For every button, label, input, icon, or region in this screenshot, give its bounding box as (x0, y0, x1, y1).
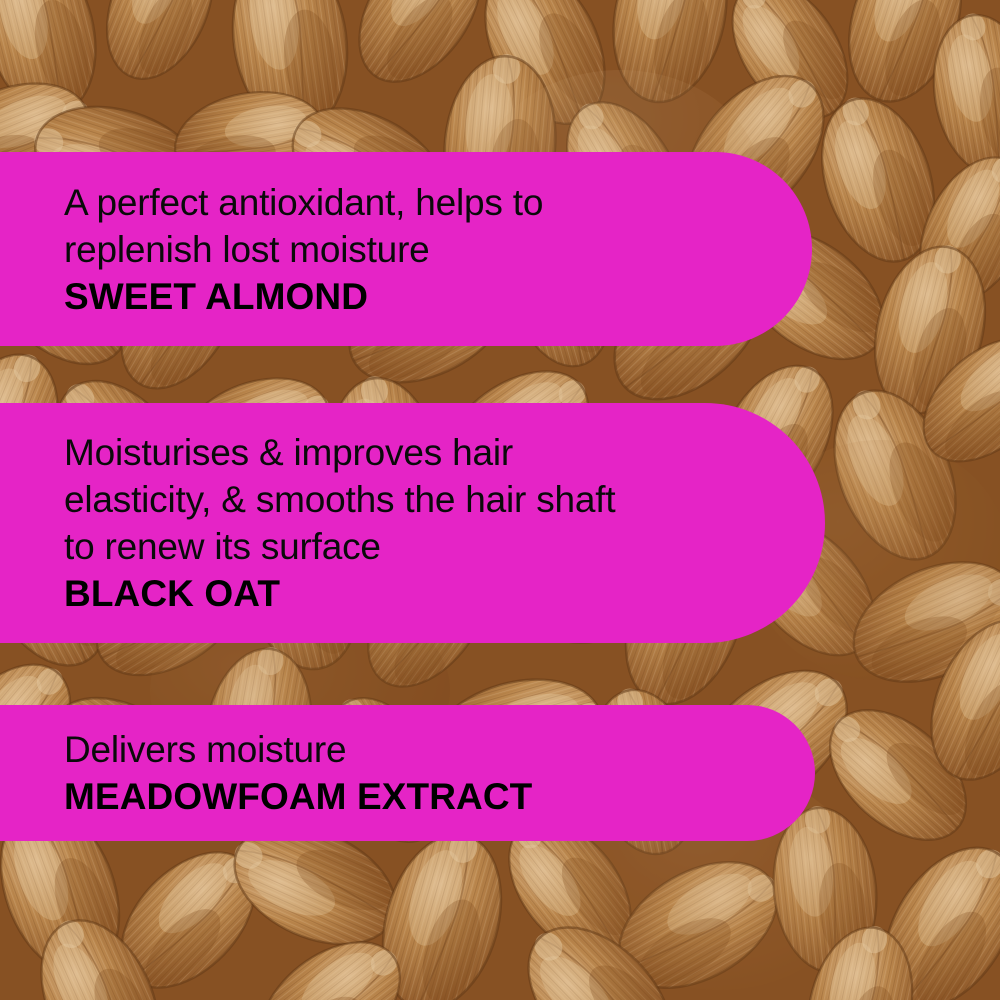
ingredient-name: SWEET ALMOND (64, 273, 772, 320)
ingredient-name: BLACK OAT (64, 570, 785, 617)
ingredient-benefits-poster: A perfect antioxidant, helps to replenis… (0, 0, 1000, 1000)
ingredient-description: Delivers moisture (64, 726, 775, 773)
ingredient-name: MEADOWFOAM EXTRACT (64, 773, 775, 820)
ingredient-description: A perfect antioxidant, helps to replenis… (64, 179, 772, 273)
ingredient-description: Moisturises & improves hair elasticity, … (64, 429, 785, 570)
ingredient-card-sweet-almond: A perfect antioxidant, helps to replenis… (0, 152, 812, 346)
ingredient-card-black-oat: Moisturises & improves hair elasticity, … (0, 403, 825, 643)
ingredient-card-meadowfoam: Delivers moisture MEADOWFOAM EXTRACT (0, 705, 815, 841)
